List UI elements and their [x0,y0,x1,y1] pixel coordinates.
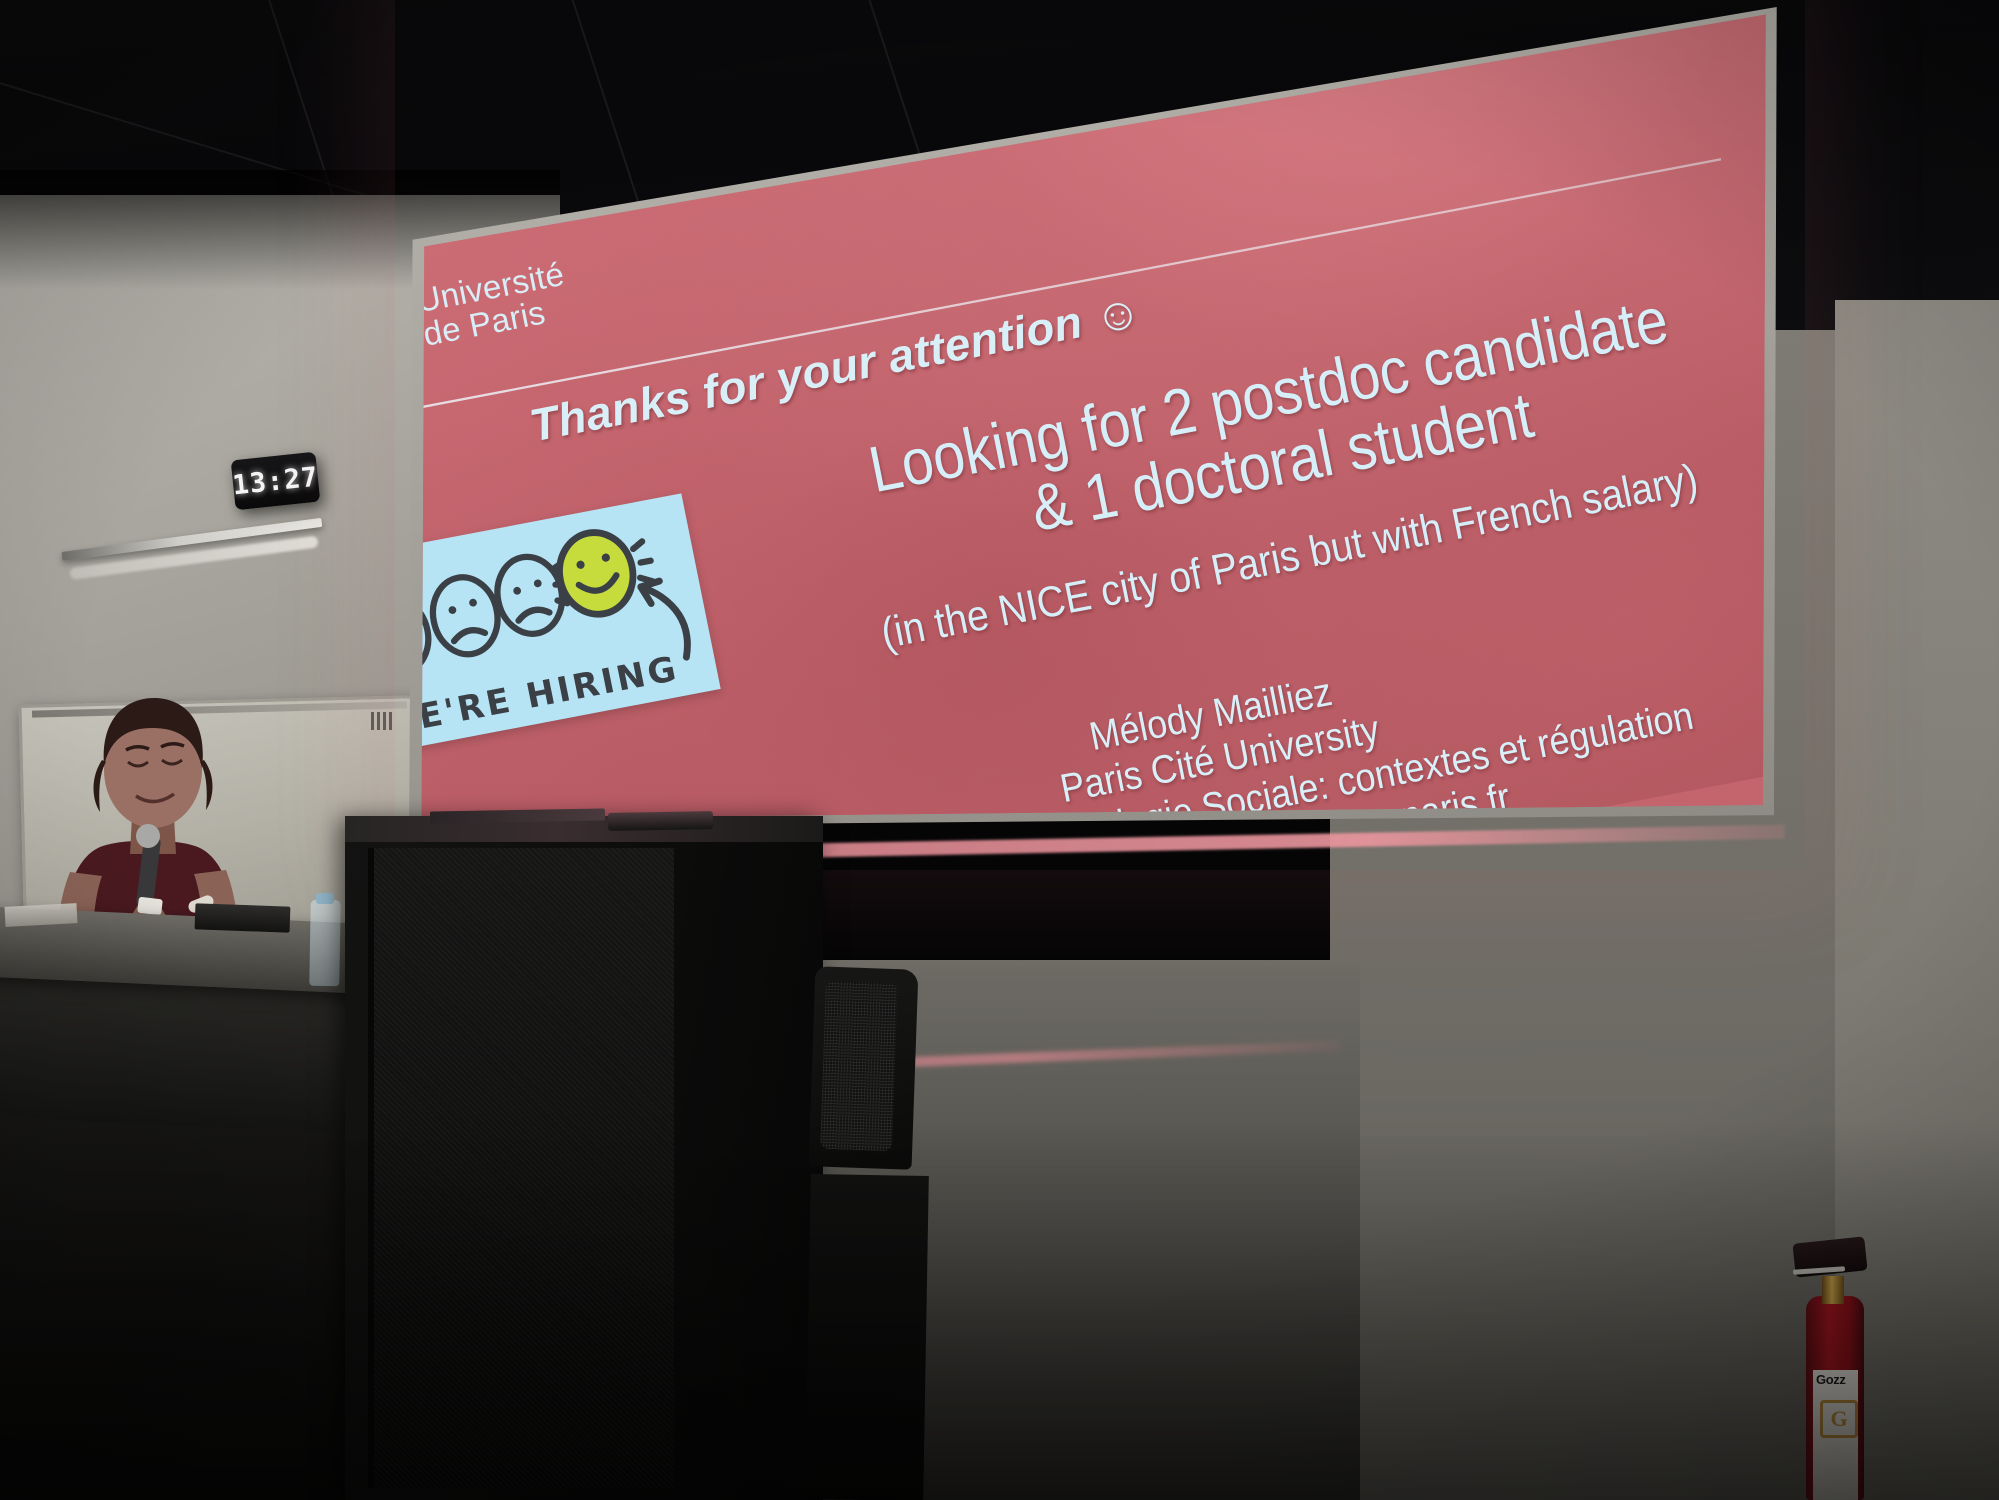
lps-line-2: Psychologie Sociale [1514,2,1698,19]
fire-extinguisher-neck [1822,1276,1844,1304]
lps-logo-text: Laboratoire de Psychologie Sociale [1510,2,1698,19]
whiteboard-magnets [371,712,393,730]
universite-de-paris-logo: Université de Paris [405,259,574,368]
chair-seat [805,1174,929,1500]
hiring-caption: WE'RE HIRING [405,649,682,745]
wall-clock: 13:27 [231,452,321,511]
conference-room-photo: 13:27 [0,0,1999,1500]
lps-logo: Laboratoire de Psychologie Sociale [1459,2,1713,38]
extinguisher-brand: Gozz [1813,1370,1858,1387]
lectern-device [608,811,713,831]
device-on-desk [195,903,291,932]
chair-mesh [820,981,898,1151]
clock-time: 13:27 [231,461,320,501]
university-logo-text: Université de Paris [414,259,574,353]
we-are-hiring-image: WE'RE HIRING [405,493,721,755]
papers-on-desk [5,903,78,927]
projection-screen: Laboratoire de Psychologie Sociale [405,2,1785,842]
extinguisher-class-marking: G [1820,1400,1858,1438]
water-bottle-cap [316,893,334,904]
lps-monogram-icon [1462,2,1711,36]
hiring-faces-illustration: WE'RE HIRING [405,493,721,755]
water-bottle [309,900,340,987]
lectern-front-panel [368,848,674,1488]
